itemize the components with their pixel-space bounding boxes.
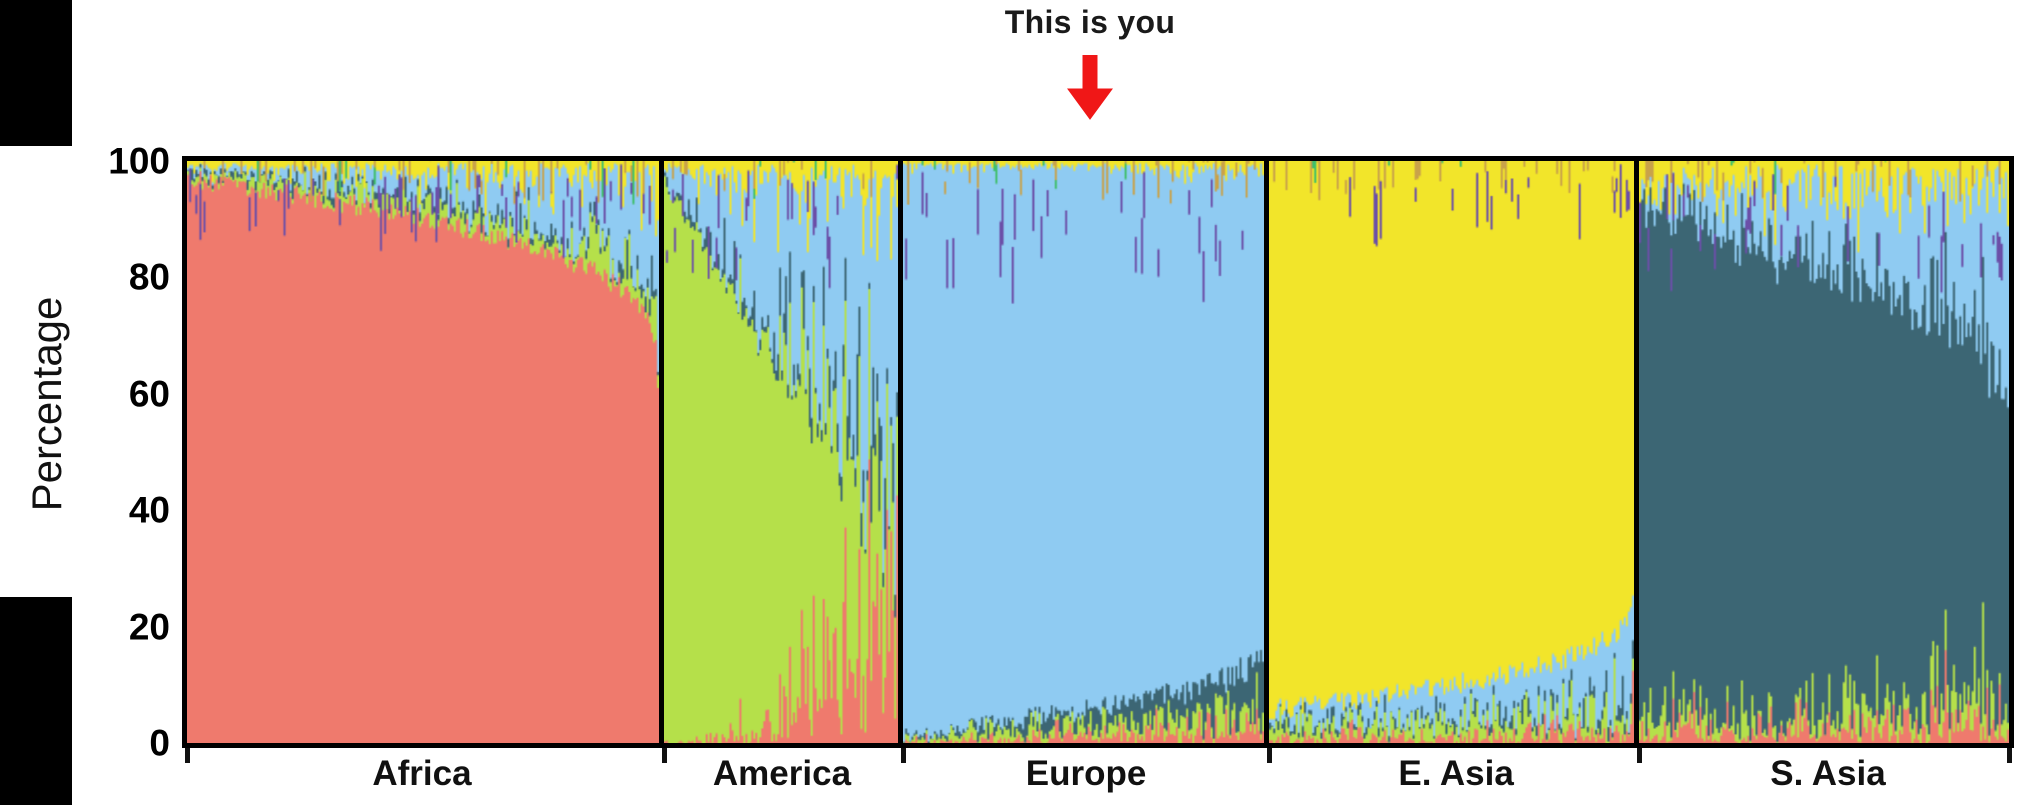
y-tick-label-60: 60 (70, 375, 170, 412)
stacked-bars-africa (187, 161, 659, 743)
left-margin-block-top (0, 0, 72, 146)
y-axis-ticks: 020406080100 (70, 0, 170, 805)
left-margin-block-bottom (0, 597, 72, 805)
x-tick-mark (185, 748, 190, 763)
y-tick-label-0: 0 (70, 725, 170, 762)
stacked-bars-america (664, 161, 898, 743)
stacked-bars-s-asia (1639, 161, 2009, 743)
panels-container (187, 161, 2009, 743)
x-label-america: America (662, 752, 902, 805)
panel-europe (903, 161, 1269, 743)
x-label-europe: Europe (902, 752, 1270, 805)
y-tick-label-40: 40 (70, 492, 170, 529)
panel-s-asia (1639, 161, 2009, 743)
x-axis-group-labels: AfricaAmericaEuropeE. AsiaS. Asia (182, 752, 2014, 805)
x-tick-mark (901, 748, 906, 763)
plot-area (182, 156, 2014, 748)
y-tick-label-80: 80 (70, 259, 170, 296)
panel-america (664, 161, 903, 743)
x-label-e-asia: E. Asia (1270, 752, 1642, 805)
annotation-this-is-you: This is you (940, 4, 1240, 121)
panel-e-asia (1269, 161, 1639, 743)
x-tick-mark (1637, 748, 1642, 763)
y-tick-label-20: 20 (70, 608, 170, 645)
down-arrow-icon (940, 55, 1240, 121)
x-tick-mark (1267, 748, 1272, 763)
x-label-s-asia: S. Asia (1642, 752, 2014, 805)
x-label-africa: Africa (182, 752, 662, 805)
x-tick-mark (2007, 748, 2012, 763)
admixture-figure: This is you Percentage 020406080100 Afri… (0, 0, 2020, 805)
y-axis-label: Percentage (23, 239, 71, 569)
annotation-label: This is you (940, 4, 1240, 41)
panel-africa (187, 161, 664, 743)
y-tick-label-100: 100 (70, 143, 170, 180)
stacked-bars-europe (903, 161, 1264, 743)
stacked-bars-e-asia (1269, 161, 1634, 743)
x-tick-mark (662, 748, 667, 763)
